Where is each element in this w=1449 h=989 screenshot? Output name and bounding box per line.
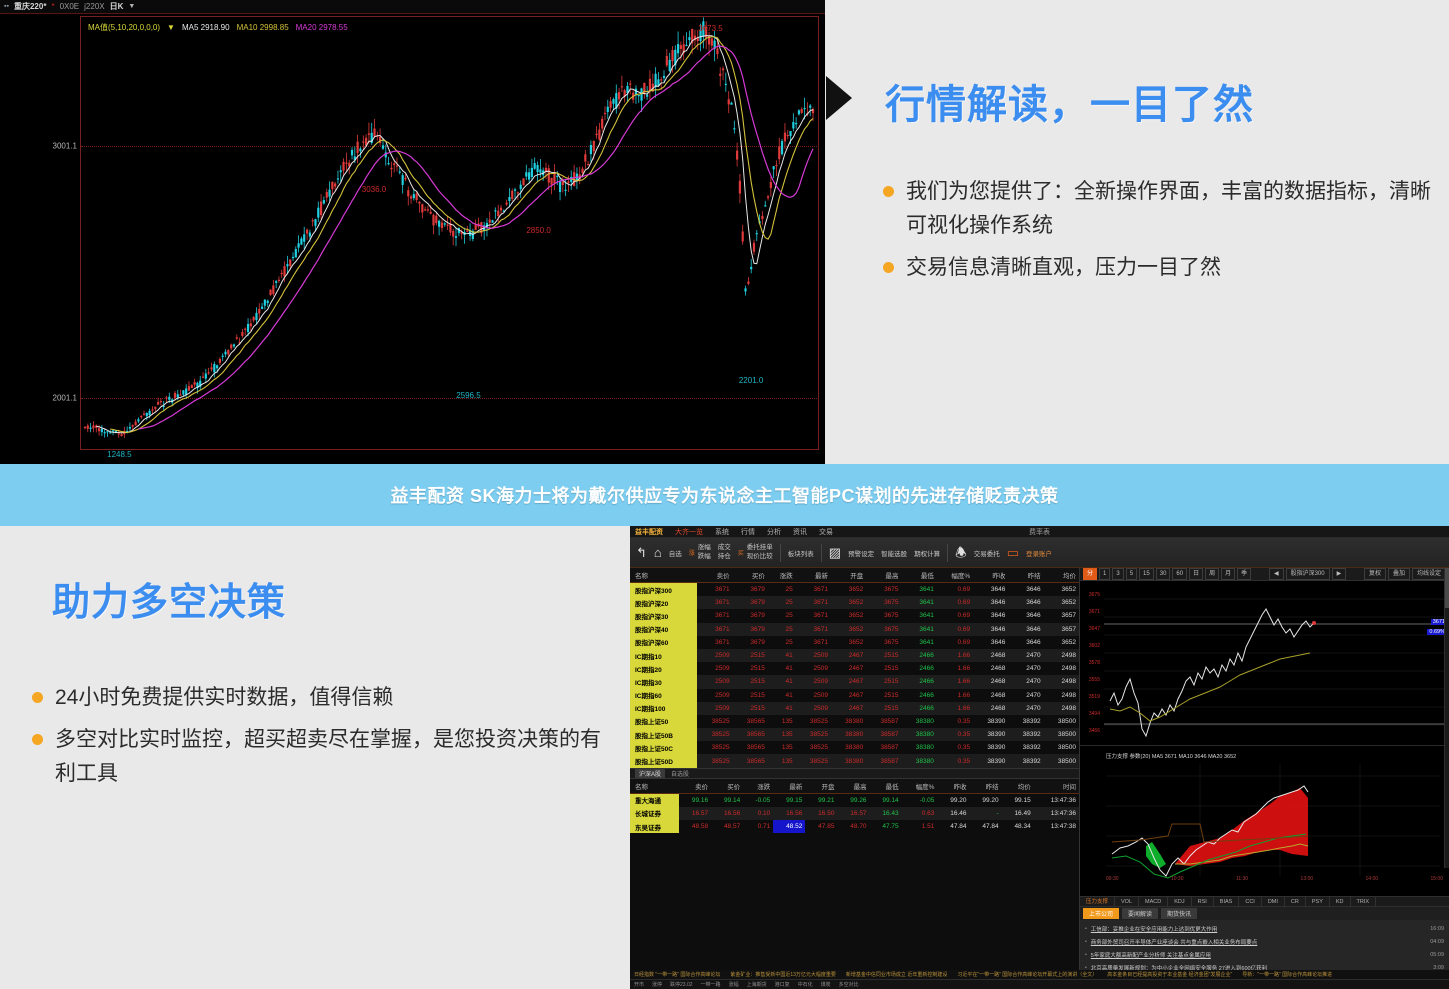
column-header[interactable]: 最低 <box>870 779 902 794</box>
news-item[interactable]: •商务部外贸司召开半导体产业座谈会 共与重点嵌入相关业务布局要点04:09 <box>1080 935 1449 948</box>
indicator-tab[interactable]: CR <box>1285 897 1306 907</box>
annotation-trough-2: 2201.0 <box>739 376 763 385</box>
cell-value: 2509 <box>796 675 831 688</box>
terminal-brand: 益丰配资 <box>635 527 663 537</box>
menu-item-system[interactable]: 系统 <box>715 527 729 537</box>
cell-value: 2467 <box>831 689 866 702</box>
order-top: 委托挂单 <box>747 544 773 552</box>
nav-prev-button[interactable]: ◀ <box>1269 568 1284 580</box>
terminal-trend-chart[interactable]: 压力支撑 参数(20) MA5 3671 MA10 3646 MA20 3652 <box>1080 746 1449 896</box>
time-tick: 14:00 <box>1366 876 1379 882</box>
bullet-dot-icon <box>883 186 894 197</box>
cell-value: 13:47:36 <box>1034 807 1079 820</box>
news-item[interactable]: •工信部：妥推企业在安全应用能力上达到优更大作用16:09 <box>1080 922 1449 935</box>
cell-value: 3657 <box>1044 609 1079 622</box>
indicator-tab[interactable]: VOL <box>1115 897 1139 907</box>
cell-value: 2515 <box>733 675 768 688</box>
top-bullet-2: 交易信息清晰直观，压力一目了然 <box>906 251 1221 285</box>
cell-value: 2509 <box>697 689 732 702</box>
cell-value: 47.85 <box>805 820 837 833</box>
column-header[interactable]: 幅度% <box>937 568 973 583</box>
cell-value: 3675 <box>866 583 901 597</box>
cell-value: 3657 <box>1044 623 1079 636</box>
kline-line-svg <box>1080 581 1449 746</box>
board-list-label: 板块列表 <box>788 548 814 558</box>
chart-plot-area[interactable]: 3001.1 2001.1 3673.5 3036.0 2850.0 2596.… <box>80 16 819 450</box>
news-title[interactable]: 商务部外贸司召开半导体产业座谈会 共与重点嵌入相关业务布局要点 <box>1091 938 1430 946</box>
ma-settings-button[interactable]: 均线设定 <box>1412 568 1446 580</box>
top-bullet-1: 我们为您提供了：全新操作界面，丰富的数据指标，清晰可视化操作系统 <box>906 175 1443 243</box>
trend-time-axis: 09:3010:3011:3013:0014:0015:00 <box>1106 876 1443 882</box>
indicator-tab[interactable]: BIAS <box>1214 897 1240 907</box>
cell-value: 2466 <box>902 649 937 662</box>
cell-value: 38380 <box>831 741 866 754</box>
row-symbol: IC期指20 <box>630 662 697 675</box>
current-symbol-label[interactable]: 股指沪深300 <box>1286 568 1330 580</box>
table-row[interactable]: 东吴证券48.5848.570.7148.5247.8548.7047.751.… <box>630 820 1079 833</box>
cell-value: 38390 <box>973 754 1008 767</box>
cell-value: 41 <box>768 662 796 675</box>
top-headline: 行情解读，一目了然 <box>885 72 1254 130</box>
row-symbol: IC期指10 <box>630 649 697 662</box>
tf-60[interactable]: 60 <box>1172 568 1187 580</box>
column-header[interactable]: 时间 <box>1034 779 1079 794</box>
cell-value: 3641 <box>902 583 937 597</box>
cell-value: 2466 <box>902 689 937 702</box>
cell-value: 25 <box>768 636 796 649</box>
back-icon: ↰ <box>636 546 647 559</box>
news-tab-headlines[interactable]: 要闻解读 <box>1122 908 1158 919</box>
bullet-icon: • <box>1085 926 1087 932</box>
cell-value: 2468 <box>973 675 1008 688</box>
column-header[interactable]: 均价 <box>1002 779 1034 794</box>
column-header[interactable]: 最低 <box>902 568 937 583</box>
holdings-table-header: 名称卖价买价涨跌最新开盘最高最低幅度%昨收昨结均价时间 <box>630 779 1079 794</box>
indicator-tab[interactable]: CCI <box>1239 897 1261 907</box>
status-item: 上海期货 <box>747 981 767 988</box>
cell-value: 13:47:38 <box>1034 820 1079 833</box>
quote-table[interactable]: 名称卖价买价涨跌最新开盘最高最低幅度%昨收昨结均价 股指沪深3003671367… <box>630 568 1079 768</box>
bullet-icon: • <box>1085 952 1087 958</box>
slide-page: ▪▪ 重庆220* * 0X0E j220X 日K ▼ MA值(5,10,20,… <box>0 0 1449 989</box>
cell-value: 2509 <box>697 662 732 675</box>
news-tabs[interactable]: 上市公司 要闻解读 期货快讯 <box>1080 907 1449 920</box>
cell-value: 38525 <box>796 728 831 741</box>
cell-value: 135 <box>768 741 796 754</box>
news-title[interactable]: 工信部：妥推企业在安全应用能力上达到优更大作用 <box>1091 925 1430 933</box>
cell-value: 2498 <box>1044 675 1079 688</box>
cell-value: 3671 <box>697 636 732 649</box>
row-symbol: 重大海通 <box>630 793 679 807</box>
cell-value: 3646 <box>1008 636 1043 649</box>
row-symbol: IC期指60 <box>630 689 697 702</box>
cell-value: 2515 <box>733 662 768 675</box>
cell-value: 38525 <box>796 754 831 767</box>
indicator-tabs[interactable]: 压力支撑VOLMACDKDJRSIBIASCCIDMICRPSYKDTRIX <box>1080 896 1449 907</box>
chevron-down-icon[interactable]: ▼ <box>128 3 135 10</box>
updown-bottom: 跌幅 <box>698 553 711 561</box>
banner-title: 益丰配资 SK海力士将为戴尔供应专为东说念主工智能PC谋划的先进存储贬责决策 <box>390 482 1058 508</box>
annotation-trough-3: 1248.5 <box>107 450 131 459</box>
cell-value: 3652 <box>831 609 866 622</box>
news-time: 04:09 <box>1430 939 1444 945</box>
indicator-tab[interactable]: MACD <box>1139 897 1168 907</box>
cell-value: 2466 <box>902 662 937 675</box>
tf-day[interactable]: 日 <box>1189 568 1203 580</box>
order-area-toggle[interactable]: 买 委托挂单 现价比较 <box>738 544 773 560</box>
bottom-bullet-2: 多空对比实时监控，超买超卖尽在掌握，是您投资决策的有利工具 <box>55 723 612 791</box>
cell-value: 3675 <box>866 636 901 649</box>
indicator-tab[interactable]: RSI <box>1192 897 1214 907</box>
cell-value: 3646 <box>973 636 1008 649</box>
status-item: 多空对比 <box>839 981 859 988</box>
cell-value: 38390 <box>973 728 1008 741</box>
cell-value: 2466 <box>902 675 937 688</box>
news-item[interactable]: •5年家庭大额高新配产业分析师 关注基点金属应用05:09 <box>1080 948 1449 961</box>
status-item: 一带一路 <box>701 981 721 988</box>
row-symbol: IC期指100 <box>630 702 697 715</box>
column-header[interactable]: 最高 <box>866 568 901 583</box>
column-header[interactable]: 涨跌 <box>768 568 796 583</box>
row-symbol: 股指上证50B <box>630 728 697 741</box>
cell-value: 1.51 <box>902 820 938 833</box>
terminal-ticker: 日经指数 "一带一路" 国际合作高峰论坛紫金矿业：推售受新中国近13万亿元大幅度… <box>630 970 1449 979</box>
screen-button[interactable]: ▭ <box>1007 546 1019 559</box>
column-header[interactable]: 开盘 <box>805 779 837 794</box>
ticker-item: 日经指数 "一带一路" 国际合作高峰论坛 <box>634 971 720 978</box>
cell-value: 1.66 <box>937 689 973 702</box>
cell-value: 2470 <box>1008 702 1043 715</box>
menu-item-quotes[interactable]: 行情 <box>741 527 755 537</box>
cell-value: 38392 <box>1008 754 1043 767</box>
cell-value: 0.35 <box>937 741 973 754</box>
trading-terminal-screenshot: 益丰配资 大齐一览 系统 行情 分析 资讯 交易 费率表 ↰ ⌂ 自选 <box>630 526 1449 989</box>
cell-value: 16.49 <box>1002 807 1034 820</box>
self-select-button[interactable]: 自选 <box>669 548 682 558</box>
column-header[interactable]: 昨结 <box>1008 568 1043 583</box>
terminal-toolbar: ↰ ⌂ 自选 涨 涨幅 跌幅 成交 持仓 买 <box>630 538 1449 568</box>
tf-week[interactable]: 周 <box>1205 568 1219 580</box>
cell-value: 1.66 <box>937 675 973 688</box>
cell-value: 38380 <box>902 741 937 754</box>
amount-bottom: 持仓 <box>718 553 731 561</box>
top-text-column: 行情解读，一目了然 我们为您提供了：全新操作界面，丰富的数据指标，清晰可视化操作… <box>825 0 1449 464</box>
indicator-tab[interactable]: KD <box>1330 897 1351 907</box>
cell-value: 2509 <box>796 702 831 715</box>
cell-value: 3679 <box>733 636 768 649</box>
time-tick: 10:30 <box>1171 876 1184 882</box>
cell-value: 3646 <box>973 609 1008 622</box>
terminal-brand2: 大齐一览 <box>675 527 703 537</box>
column-header[interactable]: 昨收 <box>973 568 1008 583</box>
table-row[interactable]: 股指上证50C385253856513538525383803858738380… <box>630 741 1079 754</box>
cell-value: 3652 <box>831 623 866 636</box>
bottom-bullet-list: 24小时免费提供实时数据，值得信赖 多空对比实时监控，超买超卖尽在掌握，是您投资… <box>32 681 612 799</box>
column-header[interactable]: 最高 <box>837 779 869 794</box>
terminal-right-pane: 分 1 3 5 15 30 60 日 周 月 季 ◀ 股指沪深300 <box>1080 568 1449 989</box>
column-header[interactable]: 昨结 <box>970 779 1002 794</box>
account-label: 登录账户 <box>1026 548 1052 558</box>
cell-value: 3641 <box>902 596 937 609</box>
cell-value: 2498 <box>1044 689 1079 702</box>
order-bottom: 现价比较 <box>747 553 773 561</box>
chart-field2: j220X <box>84 2 104 11</box>
tf-quarter[interactable]: 季 <box>1237 568 1251 580</box>
menu-item-analysis[interactable]: 分析 <box>767 527 781 537</box>
column-header[interactable]: 均价 <box>1044 568 1079 583</box>
bullet-icon: • <box>1085 939 1087 945</box>
overlay-button[interactable]: 叠加 <box>1388 568 1410 580</box>
chart-timeframe-toolbar[interactable]: 分 1 3 5 15 30 60 日 周 月 季 ◀ 股指沪深300 <box>1080 568 1449 581</box>
row-symbol: 东吴证券 <box>630 820 679 833</box>
board-list-button[interactable]: 板块列表 <box>788 548 814 558</box>
cell-value: -0.05 <box>743 793 773 807</box>
account-button[interactable]: 登录账户 <box>1026 548 1052 558</box>
cell-value: 0.10 <box>743 807 773 820</box>
cell-value: 38525 <box>796 741 831 754</box>
table-row[interactable]: IC期指20250925154125092467251524661.662468… <box>630 662 1079 675</box>
annotation-peak-2: 3036.0 <box>362 185 386 194</box>
cell-value: 47.84 <box>970 820 1002 833</box>
terminal-kline-chart[interactable]: 367536713647360235783555351934943466 <box>1080 581 1449 746</box>
cell-value: 2470 <box>1008 649 1043 662</box>
menu-item-trade[interactable]: 交易 <box>819 527 833 537</box>
cell-value: 38380 <box>831 754 866 767</box>
bullet-dot-icon <box>32 734 43 745</box>
kline-series-svg <box>81 16 819 450</box>
ticker-item: 导新："一带一路" 国际合作高峰论坛推进 <box>1242 971 1332 978</box>
cell-value: 3675 <box>866 596 901 609</box>
indicator-tab[interactable]: 压力支撑 <box>1080 897 1115 907</box>
news-tab-futures[interactable]: 期货快讯 <box>1161 908 1197 919</box>
amount-toggle[interactable]: 成交 持仓 <box>718 544 731 560</box>
column-header[interactable]: 最新 <box>773 779 805 794</box>
tf-30[interactable]: 30 <box>1156 568 1171 580</box>
back-button[interactable]: ↰ <box>636 546 647 559</box>
table-row[interactable]: 长城证券16.5716.560.1016.5616.5016.5716.430.… <box>630 807 1079 820</box>
bottom-bullet-1: 24小时免费提供实时数据，值得信赖 <box>55 681 393 715</box>
table-row[interactable]: 股指沪深300367136792536713652367536410.69364… <box>630 583 1079 597</box>
cell-value: 2468 <box>973 649 1008 662</box>
ticker-item: 习近平在"一带一路" 国际合作高峰论坛开幕式上的演讲（全文） <box>957 971 1097 978</box>
tf-1[interactable]: 1 <box>1099 568 1110 580</box>
cell-value: 38392 <box>1008 728 1043 741</box>
subtab-a-shares[interactable]: 沪深A股 <box>635 769 665 778</box>
news-title[interactable]: 5年家庭大额高新配产业分析师 关注基点金属应用 <box>1091 951 1430 959</box>
kline-chart-screenshot: ▪▪ 重庆220* * 0X0E j220X 日K ▼ MA值(5,10,20,… <box>0 0 825 464</box>
table-row[interactable]: 股指沪深20367136792536713652367536410.693646… <box>630 596 1079 609</box>
cell-value: 99.20 <box>937 793 969 807</box>
toolbar-divider <box>947 544 948 562</box>
home-button[interactable]: ⌂ <box>654 546 662 559</box>
trade-entry-button[interactable]: 交易委托 <box>974 548 1000 558</box>
chart-period[interactable]: 日K <box>110 1 124 12</box>
tf-month[interactable]: 月 <box>1221 568 1235 580</box>
cell-value: 48.52 <box>773 820 805 833</box>
price-alert-button[interactable]: 预警设定 <box>848 548 874 558</box>
cell-value: 38565 <box>733 741 768 754</box>
scrollbar-thumb[interactable] <box>1445 568 1449 608</box>
cell-value: 3652 <box>1044 596 1079 609</box>
holdings-table[interactable]: 名称卖价买价涨跌最新开盘最高最低幅度%昨收昨结均价时间 重大海通99.1699.… <box>630 779 1079 834</box>
cell-value: 1.66 <box>937 662 973 675</box>
table-row[interactable]: 股指上证50B385253856513538525383803858738380… <box>630 728 1079 741</box>
quote-subtabs[interactable]: 沪深A股 自选股 <box>630 768 1079 779</box>
bottom-section: 助力多空决策 24小时免费提供实时数据，值得信赖 多空对比实时监控，超买超卖尽在… <box>0 526 1449 989</box>
cell-value: 38392 <box>1008 741 1043 754</box>
cell-value: 3679 <box>733 609 768 622</box>
cell-value: 135 <box>768 728 796 741</box>
cell-value: 41 <box>768 702 796 715</box>
subtab-watchlist[interactable]: 自选股 <box>671 769 689 778</box>
condition-button[interactable]: 期权计算 <box>914 548 940 558</box>
home-icon: ⌂ <box>654 546 662 559</box>
cell-value: 2509 <box>796 649 831 662</box>
cell-value: 3679 <box>733 596 768 609</box>
screen-icon: ▭ <box>1007 546 1019 559</box>
cell-value: 25 <box>768 623 796 636</box>
cell-value: 0.69 <box>937 583 973 597</box>
row-symbol: 股指上证50C <box>630 741 697 754</box>
column-header[interactable]: 买价 <box>733 568 768 583</box>
list-item: 24小时免费提供实时数据，值得信赖 <box>32 681 612 715</box>
indicator-tab[interactable]: DMI <box>1262 897 1285 907</box>
cell-value: 3679 <box>733 583 768 597</box>
market-scan-button[interactable]: 智能选股 <box>881 548 907 558</box>
table-row[interactable]: 股指沪深40367136792536713652367536410.693646… <box>630 623 1079 636</box>
cell-value: -0.05 <box>902 793 938 807</box>
cell-value: 38525 <box>697 728 732 741</box>
cell-value: 3646 <box>1008 609 1043 622</box>
cell-value: 3671 <box>697 596 732 609</box>
news-tab-listed[interactable]: 上市公司 <box>1083 908 1119 919</box>
cell-value: 2515 <box>866 662 901 675</box>
cell-value: 2468 <box>973 662 1008 675</box>
row-symbol: 股指沪深30 <box>630 609 697 622</box>
updown-toggle[interactable]: 涨 涨幅 跌幅 <box>689 544 711 560</box>
tf-15[interactable]: 15 <box>1139 568 1154 580</box>
cell-value: 16.46 <box>937 807 969 820</box>
chart-topbar: ▪▪ 重庆220* * 0X0E j220X 日K ▼ <box>0 0 825 14</box>
tf-5[interactable]: 5 <box>1126 568 1137 580</box>
cell-value: 38500 <box>1044 715 1079 728</box>
table-row[interactable]: IC期指100250925154125092467251524661.66246… <box>630 702 1079 715</box>
cell-value: 3671 <box>697 623 732 636</box>
cell-value: 0.63 <box>902 807 938 820</box>
cell-value: 38587 <box>866 728 901 741</box>
cell-value: 99.14 <box>711 793 743 807</box>
table-row[interactable]: IC期指10250925154125092467251524661.662468… <box>630 649 1079 662</box>
column-header[interactable]: 买价 <box>711 779 743 794</box>
column-header[interactable]: 名称 <box>630 568 697 583</box>
terminal-body: 名称卖价买价涨跌最新开盘最高最低幅度%昨收昨结均价 股指沪深3003671367… <box>630 568 1449 989</box>
tf-3[interactable]: 3 <box>1112 568 1123 580</box>
table-row[interactable]: IC期指60250925154125092467251524661.662468… <box>630 689 1079 702</box>
cell-value: 0.35 <box>937 754 973 767</box>
terminal-scrollbar[interactable] <box>1444 568 1449 868</box>
cell-value: 47.84 <box>937 820 969 833</box>
table-row[interactable]: 股指上证50D385253856513538525383803858738380… <box>630 754 1079 767</box>
self-select-label: 自选 <box>669 548 682 558</box>
menu-item-news[interactable]: 资讯 <box>793 527 807 537</box>
cell-value: 2470 <box>1008 689 1043 702</box>
cell-value: 3646 <box>1008 596 1043 609</box>
cell-value: 38565 <box>733 728 768 741</box>
time-tick: 11:30 <box>1236 876 1248 882</box>
cell-value: 3646 <box>1008 623 1043 636</box>
cell-value: 41 <box>768 675 796 688</box>
table-row[interactable]: 股指沪深60367136792536713652367536410.693646… <box>630 636 1079 649</box>
chart-code: 重庆220* <box>14 1 46 12</box>
cell-value: 3652 <box>831 583 866 597</box>
cell-value: 38525 <box>697 741 732 754</box>
nav-next-button[interactable]: ▶ <box>1332 568 1347 580</box>
cell-value: 3652 <box>1044 636 1079 649</box>
row-symbol: 股指上证50D <box>630 754 697 767</box>
row-symbol: 股指沪深300 <box>630 583 697 597</box>
row-symbol: 股指上证50 <box>630 715 697 728</box>
cell-value: 38380 <box>902 728 937 741</box>
cell-value: 2515 <box>866 649 901 662</box>
status-item: 煤炭 <box>821 981 831 988</box>
cell-value: 16.56 <box>711 807 743 820</box>
cell-value: 38500 <box>1044 754 1079 767</box>
table-row[interactable]: 重大海通99.1699.14-0.0599.1599.2199.2699.14-… <box>630 793 1079 807</box>
cell-value: 2509 <box>697 702 732 715</box>
column-header[interactable]: 卖价 <box>679 779 711 794</box>
cell-value: 2515 <box>866 675 901 688</box>
terminal-left-pane: 名称卖价买价涨跌最新开盘最高最低幅度%昨收昨结均价 股指沪深3003671367… <box>630 568 1080 989</box>
column-header[interactable]: 幅度% <box>902 779 938 794</box>
top-section: ▪▪ 重庆220* * 0X0E j220X 日K ▼ MA值(5,10,20,… <box>0 0 1449 464</box>
indicator-tab[interactable]: PSY <box>1306 897 1330 907</box>
status-item: 港口复 <box>775 981 790 988</box>
table-row[interactable]: 股指上证503852538565135385253838038587383800… <box>630 715 1079 728</box>
trade-entry-label: 交易委托 <box>974 548 1000 558</box>
adjust-button[interactable]: 复权 <box>1364 568 1386 580</box>
chart-view-button[interactable]: ▨ <box>829 546 841 559</box>
row-symbol: 长城证券 <box>630 807 679 820</box>
status-item: 开市 <box>634 981 644 988</box>
column-header[interactable]: 名称 <box>630 779 679 794</box>
table-row[interactable]: IC期指30250925154125092467251524661.662468… <box>630 675 1079 688</box>
cell-value: 48.57 <box>711 820 743 833</box>
cell-value: 2515 <box>733 689 768 702</box>
cell-value: 2468 <box>973 689 1008 702</box>
cell-value: 38525 <box>796 715 831 728</box>
column-header[interactable]: 涨跌 <box>743 779 773 794</box>
cell-value: 2509 <box>697 675 732 688</box>
tf-minute[interactable]: 分 <box>1083 568 1097 580</box>
indicator-tab[interactable]: TRIX <box>1351 897 1377 907</box>
cell-value: 2509 <box>697 649 732 662</box>
indicator-tab[interactable]: KDJ <box>1168 897 1191 907</box>
cell-value: 3652 <box>831 596 866 609</box>
column-header[interactable]: 卖价 <box>697 568 732 583</box>
alert-bell-button[interactable]: 🕭 <box>955 546 967 559</box>
cell-value: 0.69 <box>937 596 973 609</box>
chart-star-icon: * <box>51 2 54 11</box>
table-row[interactable]: 股指沪深30367136792536713652367536410.693646… <box>630 609 1079 622</box>
cell-value: 38500 <box>1044 741 1079 754</box>
column-header[interactable]: 最新 <box>796 568 831 583</box>
column-header[interactable]: 开盘 <box>831 568 866 583</box>
cell-value: 16.57 <box>679 807 711 820</box>
column-header[interactable]: 昨收 <box>937 779 969 794</box>
cell-value: 2466 <box>902 702 937 715</box>
row-symbol: 股指沪深20 <box>630 596 697 609</box>
cell-value: 25 <box>768 583 796 597</box>
